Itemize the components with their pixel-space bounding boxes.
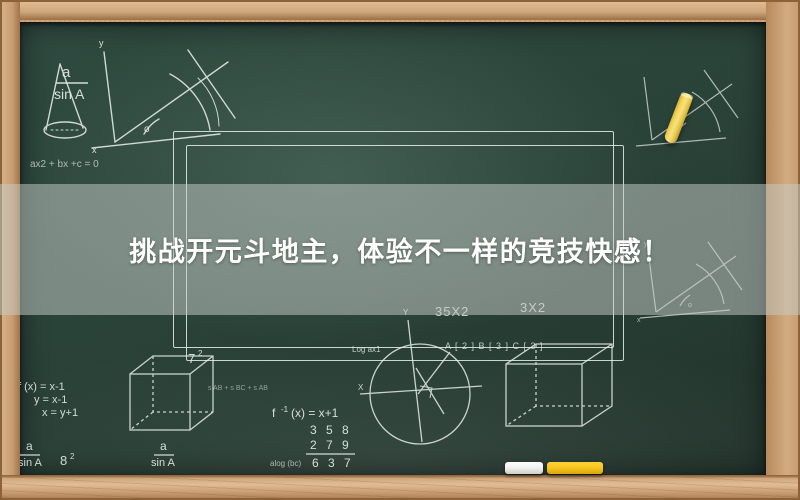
svg-text:sin A: sin A — [54, 86, 85, 102]
svg-text:3 5 8: 3 5 8 — [310, 423, 352, 437]
svg-text:f: f — [272, 406, 276, 420]
svg-text:6 3 7: 6 3 7 — [312, 456, 354, 470]
svg-text:f (x) = x-1: f (x) = x-1 — [20, 381, 65, 393]
svg-text:sin A: sin A — [20, 457, 43, 469]
svg-text:x = y+1: x = y+1 — [42, 407, 78, 419]
svg-text:x: x — [92, 145, 97, 155]
white-chalk-icon — [505, 462, 543, 474]
svg-text:y: y — [99, 38, 104, 48]
svg-text:2 7 9: 2 7 9 — [310, 438, 352, 452]
svg-text:a: a — [26, 439, 33, 453]
svg-text:8: 8 — [60, 453, 67, 468]
banner-headline: 挑战开元斗地主，体验不一样的竞技快感！ — [0, 184, 800, 315]
yellow-chalk-icon — [547, 462, 603, 474]
svg-text:-1: -1 — [281, 405, 289, 414]
svg-text:s AB + s BC + s AB: s AB + s BC + s AB — [208, 385, 268, 392]
svg-text:o: o — [144, 124, 150, 135]
svg-text:y = x-1: y = x-1 — [34, 394, 67, 406]
svg-text:x: x — [637, 317, 641, 324]
svg-text:X: X — [358, 383, 364, 392]
chalk-tray — [2, 477, 798, 498]
svg-text:a: a — [160, 439, 167, 453]
svg-text:ax2 + bx +c = 0: ax2 + bx +c = 0 — [30, 159, 99, 170]
chalk-tray-grain — [2, 477, 798, 498]
svg-text:alog (bc): alog (bc) — [270, 459, 301, 468]
svg-text:(x) = x+1: (x) = x+1 — [291, 406, 339, 420]
svg-text:a: a — [62, 64, 71, 81]
svg-text:sin A: sin A — [151, 457, 176, 469]
banner-image: a sin A y x o ax2 + bx +c = 0 f (x) = x-… — [0, 0, 800, 500]
svg-text:2: 2 — [70, 452, 75, 461]
